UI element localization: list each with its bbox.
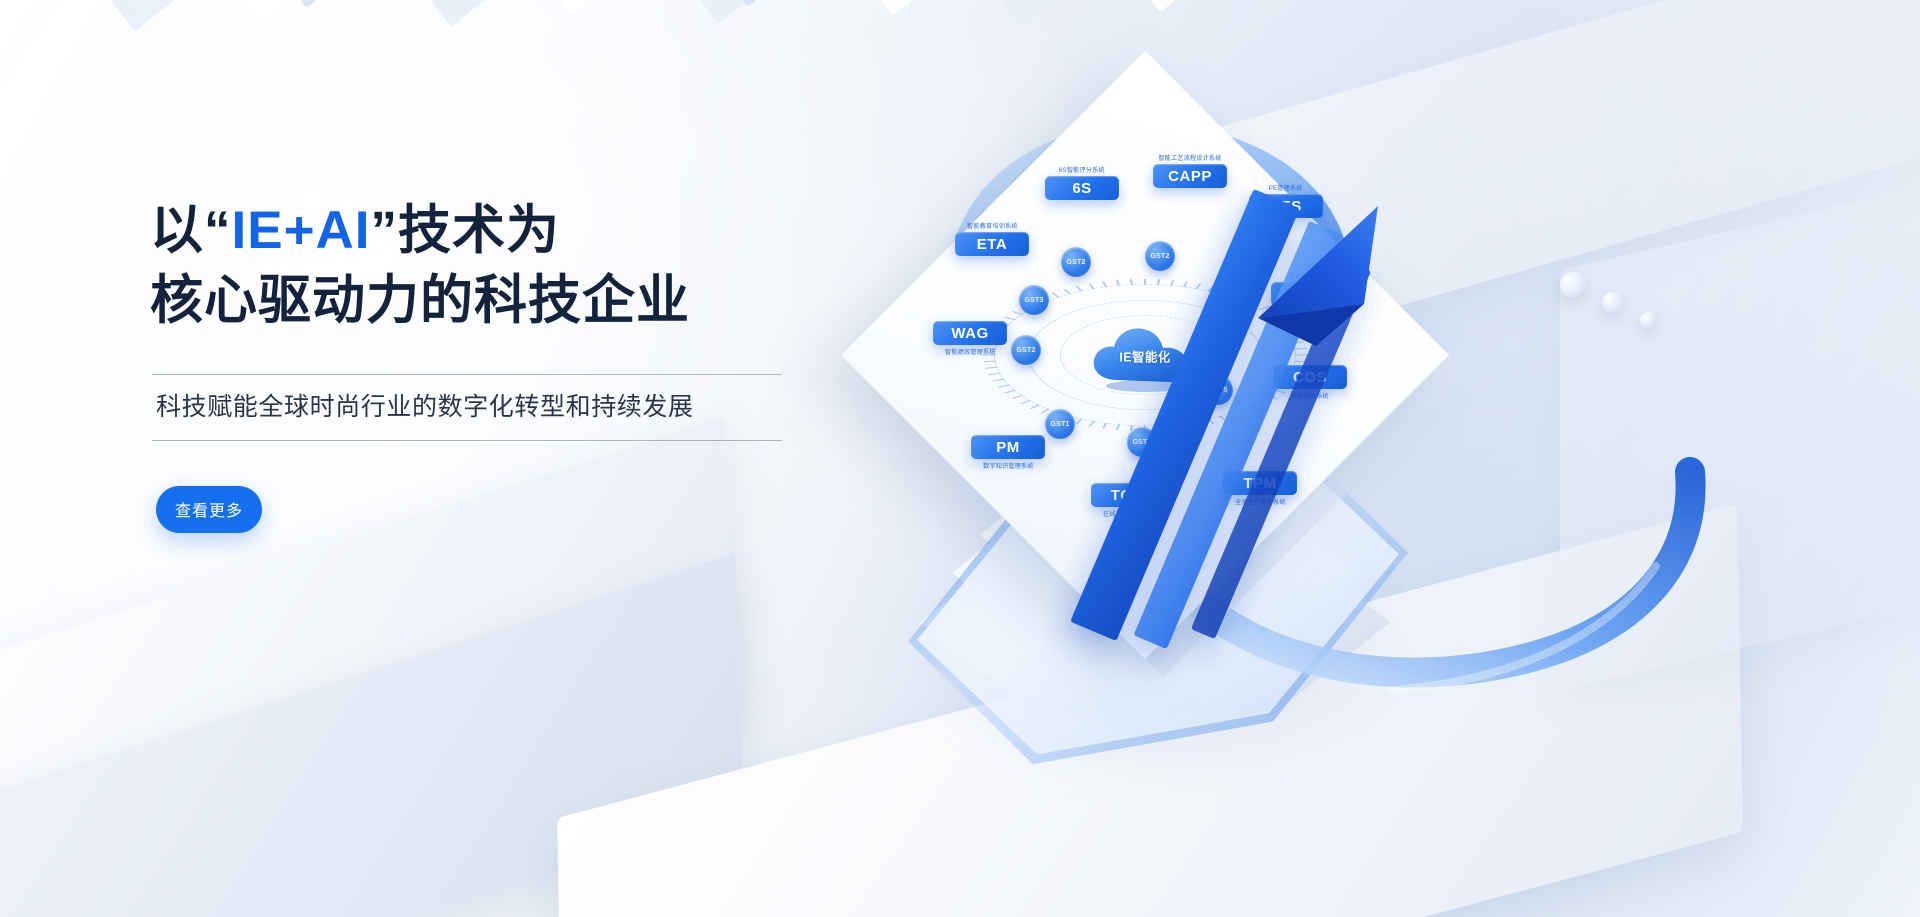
decorative-sphere (1640, 312, 1656, 328)
module-code: 6S (1045, 176, 1119, 200)
module-code: CAPP (1153, 164, 1227, 188)
center-cloud-label: IE智能化 (1119, 346, 1170, 365)
decorative-sphere (1602, 292, 1623, 313)
ring-node: GST1 (1045, 409, 1075, 439)
ring-node: GST2 (1061, 247, 1091, 277)
page-title: 以“IE+AI”技术为 核心驱动力的科技企业 (150, 196, 870, 336)
view-more-button[interactable]: 查看更多 (156, 486, 262, 533)
headline-quote-open: “ (204, 201, 232, 260)
ring-node: GST2 (1011, 335, 1041, 365)
hero-copy: 以“IE+AI”技术为 核心驱动力的科技企业 科技赋能全球时尚行业的数字化转型和… (150, 196, 870, 533)
module-eta[interactable]: 智能教育培训系统 ETA (955, 221, 1029, 256)
headline-quote-close: ” (371, 201, 399, 260)
module-code: ETA (955, 232, 1029, 256)
subtitle-divider-top (152, 374, 782, 375)
decorative-sphere (1560, 272, 1586, 298)
module-pm[interactable]: PM 数字知识管理系统 (971, 435, 1045, 470)
module-caption: PE管理系统 (1269, 183, 1303, 192)
subtitle-divider-bottom (152, 440, 782, 441)
module-code: PM (971, 435, 1045, 459)
hero-subtitle: 科技赋能全球时尚行业的数字化转型和持续发展 (150, 375, 870, 440)
headline-suffix: 技术为 (398, 201, 560, 260)
headline-accent: IE+AI (232, 201, 371, 260)
module-caption: 智能绩效管理系统 (945, 347, 996, 356)
module-caption: 智能工艺流程设计系统 (1158, 153, 1221, 162)
hero-illustration: IE智能化 GST2 GST2 GST4 GST5 GST6 GST1 GST2… (860, 60, 1920, 860)
module-caption: 智能教育培训系统 (967, 221, 1018, 230)
module-code: WAG (933, 321, 1007, 345)
headline-prefix: 以 (150, 201, 204, 260)
module-caption: 6S智能评分系统 (1059, 165, 1105, 174)
headline-line-2: 核心驱动力的科技企业 (150, 271, 690, 330)
hero-banner: 以“IE+AI”技术为 核心驱动力的科技企业 科技赋能全球时尚行业的数字化转型和… (0, 0, 1920, 917)
ring-node: GST2 (1145, 241, 1175, 271)
module-wag[interactable]: WAG 智能绩效管理系统 (933, 321, 1007, 356)
module-capp[interactable]: 智能工艺流程设计系统 CAPP (1153, 153, 1227, 188)
ring-node: GST3 (1019, 285, 1049, 315)
module-caption: 数字知识管理系统 (983, 461, 1034, 470)
arrow-up-right-icon (1252, 200, 1392, 350)
module-6s[interactable]: 6S智能评分系统 6S (1045, 165, 1119, 200)
